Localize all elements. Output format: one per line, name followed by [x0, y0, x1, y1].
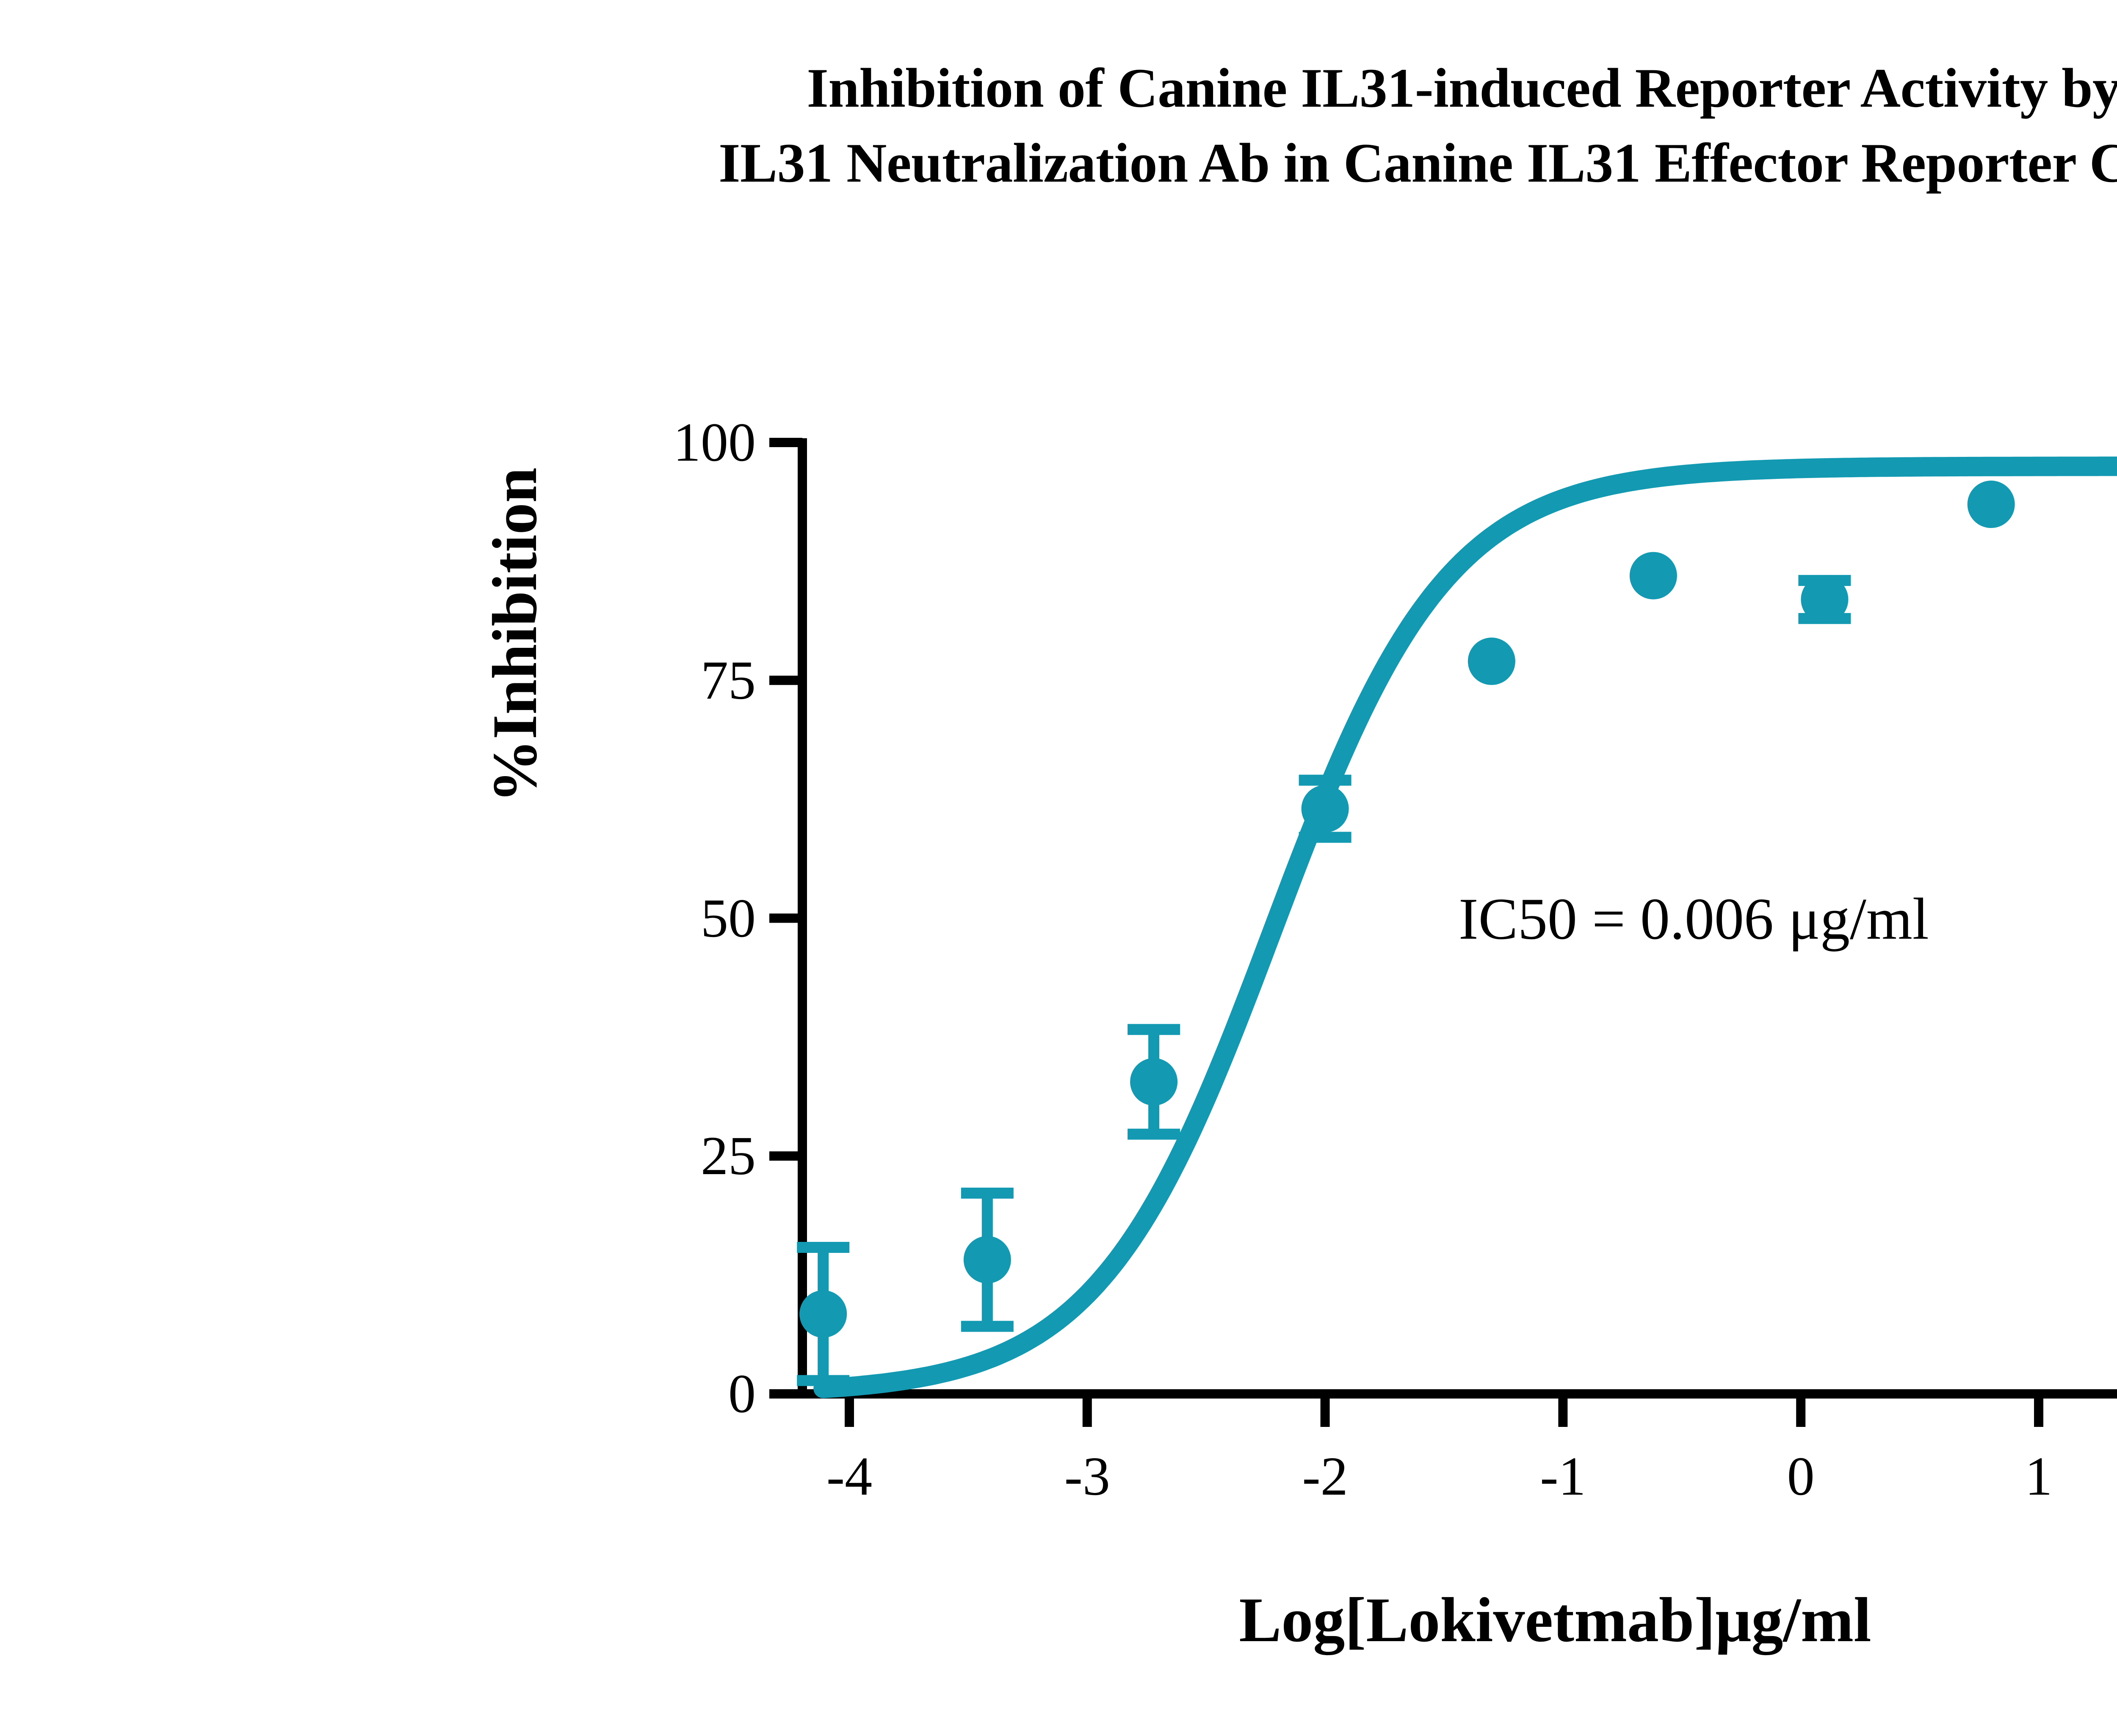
x-tick-label: -3: [1064, 1445, 1110, 1508]
data-point: [799, 1290, 847, 1338]
data-point: [1801, 576, 1848, 623]
x-tick-label: -2: [1302, 1445, 1348, 1508]
plot-area: [802, 442, 2117, 1394]
x-tick-label: 0: [1787, 1445, 1815, 1508]
data-point: [1630, 552, 1677, 600]
y-tick-label: 75: [701, 649, 756, 712]
y-tick-label: 100: [673, 411, 756, 474]
fit-curve: [823, 466, 2117, 1388]
data-point: [1468, 638, 1515, 685]
data-point: [964, 1236, 1011, 1283]
x-tick-label: 1: [2025, 1445, 2053, 1508]
chart-figure: Inhibition of Canine IL31-induced Report…: [0, 0, 2117, 1736]
x-tick-label: -1: [1540, 1445, 1586, 1508]
x-tick-label: -4: [826, 1445, 872, 1508]
data-point: [1302, 785, 1349, 832]
error-bars: [797, 581, 1851, 1381]
data-point: [1968, 481, 2015, 528]
y-tick-label: 50: [701, 887, 756, 950]
y-tick-label: 0: [728, 1362, 756, 1426]
data-point: [1130, 1058, 1177, 1106]
y-tick-label: 25: [701, 1124, 756, 1188]
